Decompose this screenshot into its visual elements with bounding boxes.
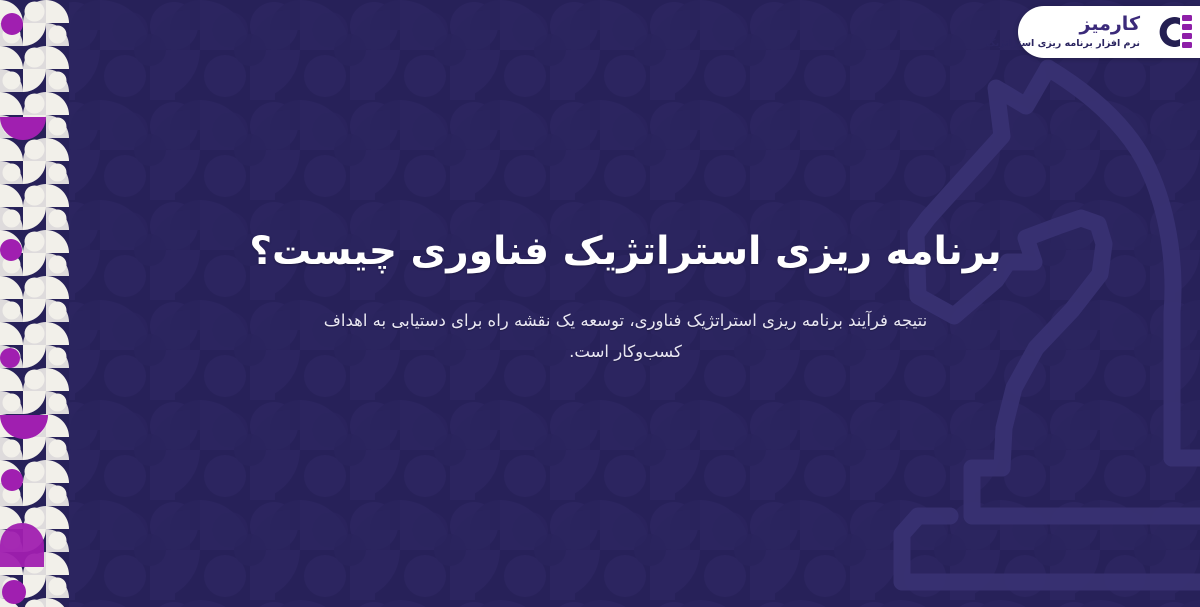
hero-content: برنامه ریزی استراتژیک فناوری چیست؟ نتیجه… [69, 0, 1200, 607]
page-subtitle: نتیجه فرآیند برنامه ریزی استراتژیک فناور… [301, 306, 951, 367]
hero-banner: برنامه ریزی استراتژیک فناوری چیست؟ نتیجه… [0, 0, 1200, 607]
left-decorative-strip [0, 0, 69, 607]
logo-text-group: کارمیز نرم افزار برنامه ریزی استراتژیک [986, 15, 1140, 49]
logo-tagline: نرم افزار برنامه ریزی استراتژیک [986, 39, 1140, 49]
page-title: برنامه ریزی استراتژیک فناوری چیست؟ [249, 226, 1001, 277]
logo-name: کارمیز [1080, 15, 1140, 34]
logo-badge[interactable]: کارمیز نرم افزار برنامه ریزی استراتژیک [1018, 6, 1200, 58]
c-logomark-icon [1148, 12, 1192, 52]
